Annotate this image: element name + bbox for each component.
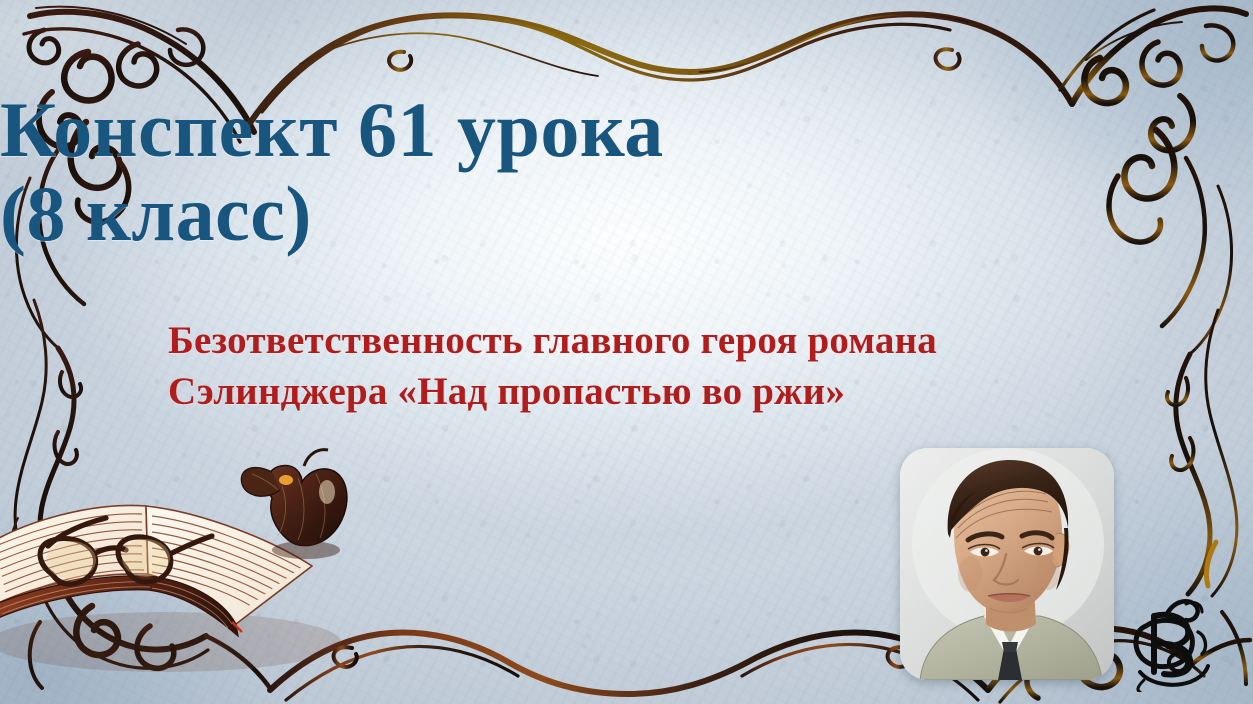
- slide-subtitle: Безответственность главного героя романа…: [168, 316, 1085, 417]
- slide-title-line-1: Конспект 61 урока: [0, 88, 1253, 172]
- open-book-with-glasses-and-apple-illustration: [0, 446, 416, 696]
- title-slide: Конспект 61 урока (8 класс) Безответстве…: [0, 0, 1253, 704]
- portrait-photo: [900, 448, 1114, 680]
- slide-title-line-2: (8 класс): [0, 172, 1253, 256]
- ornate-monogram-emblem: [1124, 596, 1212, 692]
- author-portrait: [900, 448, 1114, 680]
- slide-title: Конспект 61 урока (8 класс): [0, 88, 1253, 256]
